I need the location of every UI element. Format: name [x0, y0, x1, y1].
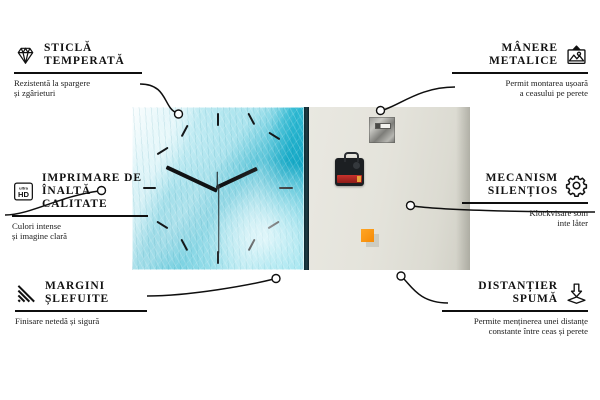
product-photo [132, 107, 470, 270]
clock-tick [248, 239, 256, 251]
callout-tempered-glass: STICLĂ TEMPERATĂ Rezistentă la spargere … [14, 42, 142, 99]
ultra-hd-icon: ultra HD [12, 180, 35, 203]
metal-hanger [369, 117, 395, 143]
callout-title: MARGINI ȘLEFUITE [45, 280, 109, 306]
clock-mechanism [335, 158, 364, 186]
callout-desc: Permit montarea ușoară a ceasului pe per… [452, 78, 588, 99]
callout-head: MARGINI ȘLEFUITE [15, 280, 147, 306]
clock-tick [157, 147, 169, 155]
clock-tick [279, 187, 293, 189]
infographic-stage: STICLĂ TEMPERATĂ Rezistentă la spargere … [0, 0, 600, 400]
callout-head: MECANISM SILENȚIOS [462, 172, 588, 198]
battery [337, 175, 362, 183]
clock-minute-hand [166, 165, 218, 192]
hanger-slot [375, 123, 391, 129]
callout-rule [462, 202, 588, 204]
callout-desc: Permite menținerea unei distanțe constan… [442, 316, 588, 337]
callout-desc: Rezistentă la spargere și zgârieturi [14, 78, 142, 99]
clock-tick [157, 221, 169, 229]
callout-print-quality: ultra HD IMPRIMARE DE ÎNALTĂ CALITATE Cu… [12, 172, 148, 242]
down-arrow-stack-icon [565, 282, 588, 305]
callout-silent-mechanism: MECANISM SILENȚIOS Klockvisare som inte … [462, 172, 588, 229]
clock-tick [248, 113, 256, 125]
callout-head: DISTANȚIER SPUMĂ [442, 280, 588, 306]
beveled-edge-icon [15, 282, 38, 305]
callout-head: MÂNERE METALICE [452, 42, 588, 68]
clock-tick [269, 132, 281, 140]
callout-metal-handles: MÂNERE METALICE Permit montarea ușoară a… [452, 42, 588, 99]
callout-rule [442, 310, 588, 312]
picture-frame-hanger-icon [565, 44, 588, 67]
callout-title: MÂNERE METALICE [489, 42, 558, 68]
foam-spacer [361, 229, 374, 242]
callout-head: ultra HD IMPRIMARE DE ÎNALTĂ CALITATE [12, 172, 148, 211]
callout-desc: Finisare netedă și sigură [15, 316, 147, 327]
clock-tick [181, 239, 189, 251]
callout-rule [452, 72, 588, 74]
clock-center-cap [216, 185, 220, 189]
callout-title: STICLĂ TEMPERATĂ [44, 42, 125, 68]
callout-foam-spacer: DISTANȚIER SPUMĂ Permite menținerea unei… [442, 280, 588, 337]
battery-tip [357, 176, 361, 182]
callout-title: IMPRIMARE DE ÎNALTĂ CALITATE [42, 172, 148, 211]
callout-polished-edges: MARGINI ȘLEFUITE Finisare netedă și sigu… [15, 280, 147, 326]
clock-tick [181, 125, 189, 137]
mechanism-loop [344, 152, 359, 162]
clock-backplate [309, 107, 470, 270]
svg-text:HD: HD [18, 190, 29, 199]
callout-rule [12, 215, 148, 217]
clock-tick [268, 221, 280, 229]
clock-tick [217, 113, 219, 126]
clock-second-hand-tail [217, 172, 218, 188]
callout-rule [15, 310, 147, 312]
gear-icon [565, 174, 588, 197]
clock-hour-hand [216, 167, 258, 189]
callout-title: MECANISM SILENȚIOS [486, 172, 558, 198]
callout-rule [14, 72, 142, 74]
callout-desc: Klockvisare som inte låter [462, 208, 588, 229]
callout-desc: Culori intense și imagine clară [12, 221, 148, 242]
clock-face [132, 107, 304, 270]
mechanism-dial [353, 162, 360, 169]
callout-head: STICLĂ TEMPERATĂ [14, 42, 142, 68]
clock-second-hand [218, 188, 219, 254]
diamond-icon [14, 44, 37, 67]
callout-title: DISTANȚIER SPUMĂ [478, 280, 558, 306]
clock-tick [217, 251, 219, 264]
